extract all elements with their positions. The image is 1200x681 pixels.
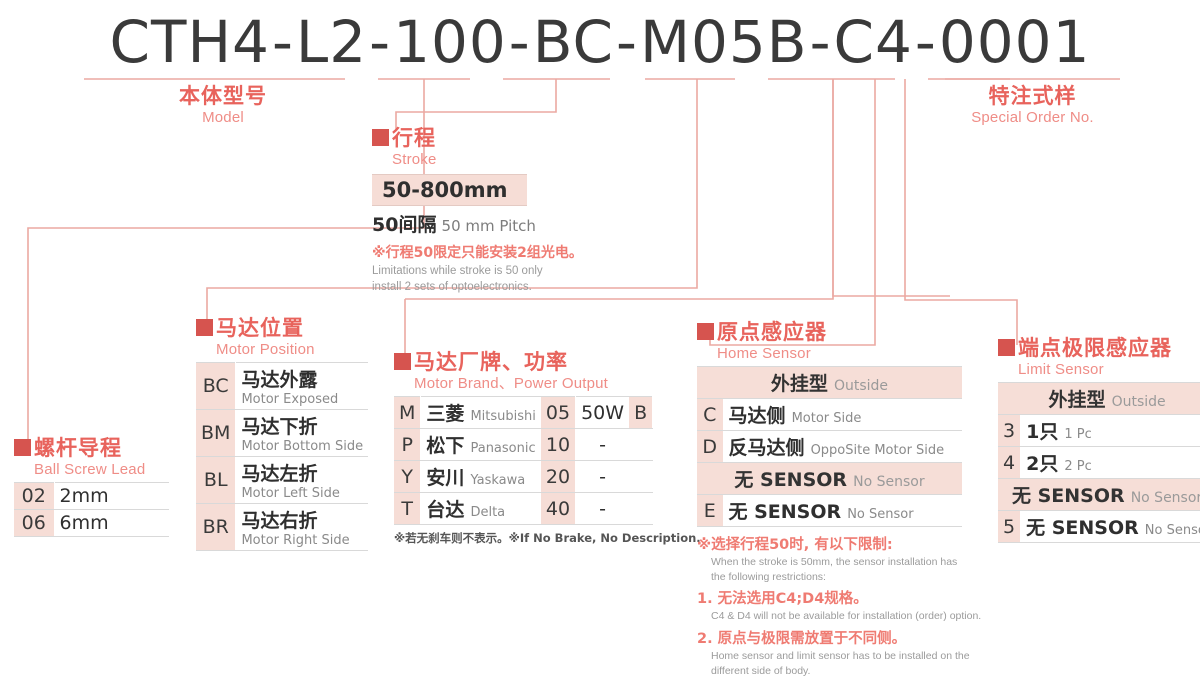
bullet-square-icon [697, 323, 714, 340]
table-row: 3 1只 1 Pc [998, 415, 1200, 447]
limit-sensor-group-none-cn: 无 SENSOR [1012, 485, 1125, 507]
home-sensor-none-code: E [697, 495, 723, 527]
motor-power-value-1: - [576, 429, 629, 461]
callout-motor-brand: 马达厂牌、功率 Motor Brand、Power Output M 三菱 Mi… [394, 352, 701, 546]
limit-sensor-cn-1: 2只 [1026, 453, 1058, 475]
callout-motor-position: 马达位置 Motor Position BC 马达外露 Motor Expose… [196, 318, 368, 551]
home-sensor-value-1: 反马达侧 OppoSite Motor Side [723, 431, 962, 463]
home-sensor-table: 外挂型 Outside C 马达侧 Motor Side D 反马达侧 Oppo… [697, 366, 962, 527]
callout-ball-screw-label-cn: 螺杆导程 [34, 438, 122, 459]
ball-screw-value-0: 2mm [54, 483, 169, 510]
motor-position-en-0: Motor Exposed [241, 392, 363, 407]
limit-sensor-value-0: 1只 1 Pc [1021, 415, 1200, 447]
home-sensor-group-outside-en: Outside [834, 378, 888, 394]
motor-power-code-2: 20 [541, 461, 576, 493]
motor-brake-code-1 [629, 429, 653, 461]
stroke-pitch: 50间隔 50 mm Pitch [372, 210, 583, 237]
limit-sensor-code-0: 3 [998, 415, 1021, 447]
table-row: 02 2mm [14, 483, 169, 510]
callout-home-sensor-label-cn: 原点感应器 [717, 322, 827, 343]
home-sensor-code-0: C [697, 399, 723, 431]
callout-motor-brand-label-cn: 马达厂牌、功率 [414, 352, 568, 373]
table-row: BL 马达左折 Motor Left Side [196, 457, 368, 504]
table-group-header-row: 外挂型 Outside [697, 367, 962, 399]
motor-brand-name-0: 三菱 Mitsubishi [421, 397, 541, 429]
home-sensor-none-cn: 无 SENSOR [729, 501, 842, 523]
motor-brand-note: ※若无刹车则不表示。※If No Brake, No Description. [394, 530, 701, 546]
limit-sensor-none-en: No Sensor [1145, 523, 1200, 538]
motor-power-code-3: 40 [541, 493, 576, 525]
table-row: M 三菱 Mitsubishi 05 50W B [394, 397, 653, 429]
motor-position-cn-0: 马达外露 [241, 365, 363, 392]
restriction-item2-en-line1: Home sensor and limit sensor has to be i… [711, 649, 1017, 664]
bullet-square-icon [372, 129, 389, 146]
motor-position-value-0: 马达外露 Motor Exposed [236, 363, 368, 410]
restriction-title-en: When the stroke is 50mm, the sensor inst… [711, 555, 1017, 584]
motor-brand-name-1: 松下 Panasonic [421, 429, 541, 461]
home-sensor-group-none: 无 SENSOR No Sensor [697, 463, 962, 495]
limit-sensor-group-none: 无 SENSOR No Sensor [998, 479, 1200, 511]
motor-brand-cn-1: 松下 [426, 435, 464, 457]
limit-sensor-group-none-en: No Sensor [1131, 490, 1200, 506]
bullet-square-icon [998, 339, 1015, 356]
stroke-note-en-line1: Limitations while stroke is 50 only [372, 264, 583, 280]
callout-motor-position-label-en: Motor Position [216, 342, 368, 357]
motor-brand-cn-0: 三菱 [426, 403, 464, 425]
motor-position-table: BC 马达外露 Motor Exposed BM 马达下折 Motor Bott… [196, 362, 368, 551]
restriction-item2-cn: 2. 原点与极限需放置于不同侧。 [697, 627, 1017, 648]
home-sensor-group-none-en: No Sensor [853, 474, 924, 490]
motor-position-en-3: Motor Right Side [241, 533, 363, 548]
motor-brand-en-0: Mitsubishi [470, 409, 535, 424]
motor-brand-name-2: 安川 Yaskawa [421, 461, 541, 493]
table-row: 4 2只 2 Pc [998, 447, 1200, 479]
callout-model-label-en: Model [118, 110, 328, 125]
motor-brand-en-2: Yaskawa [470, 473, 525, 488]
table-group-header-row: 无 SENSOR No Sensor [998, 479, 1200, 511]
restriction-item2-en-line2: different side of body. [711, 664, 1017, 679]
table-row: T 台达 Delta 40 - [394, 493, 653, 525]
callout-motor-position-label-cn: 马达位置 [216, 318, 304, 339]
leader-motor-brand-a [833, 79, 950, 296]
table-row: BM 马达下折 Motor Bottom Side [196, 410, 368, 457]
motor-brake-code-3 [629, 493, 653, 525]
table-row: D 反马达侧 OppoSite Motor Side [697, 431, 962, 463]
table-row: P 松下 Panasonic 10 - [394, 429, 653, 461]
limit-sensor-en-0: 1 Pc [1064, 427, 1091, 442]
table-row: C 马达侧 Motor Side [697, 399, 962, 431]
motor-brand-name-3: 台达 Delta [421, 493, 541, 525]
callout-special-order-label-cn: 特注式样 [989, 86, 1077, 107]
home-sensor-group-outside-cn: 外挂型 [771, 373, 828, 395]
motor-position-cn-3: 马达右折 [241, 506, 363, 533]
ball-screw-code-0: 02 [14, 483, 54, 510]
motor-position-cn-2: 马达左折 [241, 459, 363, 486]
motor-power-value-0: 50W [576, 397, 629, 429]
limit-sensor-code-1: 4 [998, 447, 1021, 479]
home-sensor-cn-0: 马达侧 [729, 405, 786, 427]
restriction-item1-en: C4 & D4 will not be available for instal… [711, 609, 1017, 624]
restriction-title-en-line2: the following restrictions: [711, 570, 1017, 585]
motor-power-value-2: - [576, 461, 629, 493]
motor-brand-code-0: M [394, 397, 421, 429]
callout-home-sensor-label-en: Home Sensor [717, 346, 1017, 361]
motor-brand-cn-2: 安川 [426, 467, 464, 489]
stroke-note-en-line2: install 2 sets of optoelectronics. [372, 280, 583, 296]
callout-limit-sensor-label-cn: 端点极限感应器 [1018, 338, 1172, 359]
table-row: E 无 SENSOR No Sensor [697, 495, 962, 527]
bullet-square-icon [14, 439, 31, 456]
callout-stroke-label-cn: 行程 [392, 128, 436, 149]
motor-position-code-0: BC [196, 363, 236, 410]
motor-position-value-2: 马达左折 Motor Left Side [236, 457, 368, 504]
motor-position-value-3: 马达右折 Motor Right Side [236, 504, 368, 551]
stroke-note-cn: ※行程50限定只能安装2组光电。 [372, 242, 583, 262]
stroke-range-value: 50-800mm [372, 174, 527, 206]
motor-brand-code-3: T [394, 493, 421, 525]
motor-power-code-1: 10 [541, 429, 576, 461]
home-sensor-none-value: 无 SENSOR No Sensor [723, 495, 962, 527]
bullet-square-icon [394, 353, 411, 370]
home-sensor-restrictions: ※选择行程50时, 有以下限制: When the stroke is 50mm… [697, 533, 1017, 678]
limit-sensor-none-cn: 无 SENSOR [1026, 517, 1139, 539]
callout-special-order: 特注式样 Special Order No. [935, 86, 1130, 125]
home-sensor-en-1: OppoSite Motor Side [811, 443, 945, 458]
restriction-title-en-line1: When the stroke is 50mm, the sensor inst… [711, 555, 1017, 570]
ball-screw-lead-table: 02 2mm 06 6mm [14, 482, 169, 537]
stroke-pitch-en: 50 mm Pitch [442, 217, 536, 235]
table-row: BR 马达右折 Motor Right Side [196, 504, 368, 551]
limit-sensor-group-outside-cn: 外挂型 [1049, 389, 1106, 411]
limit-sensor-none-code: 5 [998, 511, 1021, 543]
motor-brand-en-1: Panasonic [470, 441, 535, 456]
home-sensor-group-none-cn: 无 SENSOR [734, 469, 847, 491]
motor-position-value-1: 马达下折 Motor Bottom Side [236, 410, 368, 457]
motor-position-code-2: BL [196, 457, 236, 504]
callout-special-order-label-en: Special Order No. [935, 110, 1130, 125]
stroke-note-en: Limitations while stroke is 50 only inst… [372, 264, 583, 295]
home-sensor-value-0: 马达侧 Motor Side [723, 399, 962, 431]
home-sensor-code-1: D [697, 431, 723, 463]
restriction-title-cn: ※选择行程50时, 有以下限制: [697, 533, 1017, 554]
ball-screw-value-1: 6mm [54, 510, 169, 537]
callout-ball-screw-lead: 螺杆导程 Ball Screw Lead 02 2mm 06 6mm [14, 438, 169, 537]
home-sensor-en-0: Motor Side [792, 411, 862, 426]
table-group-header-row: 外挂型 Outside [998, 383, 1200, 415]
limit-sensor-cn-0: 1只 [1026, 421, 1058, 443]
callout-stroke: 行程 Stroke 50-800mm 50间隔 50 mm Pitch ※行程5… [372, 128, 583, 295]
table-row: 06 6mm [14, 510, 169, 537]
ball-screw-code-1: 06 [14, 510, 54, 537]
restriction-item2-en: Home sensor and limit sensor has to be i… [711, 649, 1017, 678]
leader-home-sensor [710, 79, 875, 345]
limit-sensor-group-outside: 外挂型 Outside [998, 383, 1200, 415]
motor-brand-en-3: Delta [470, 505, 505, 520]
limit-sensor-none-value: 无 SENSOR No Sensor [1021, 511, 1200, 543]
limit-sensor-en-1: 2 Pc [1064, 459, 1091, 474]
callout-model: 本体型号 Model [118, 86, 328, 125]
motor-brand-code-2: Y [394, 461, 421, 493]
callout-home-sensor: 原点感应器 Home Sensor 外挂型 Outside C 马达侧 Moto… [697, 322, 1017, 681]
motor-brand-code-1: P [394, 429, 421, 461]
motor-position-en-1: Motor Bottom Side [241, 439, 363, 454]
table-row: 5 无 SENSOR No Sensor [998, 511, 1200, 543]
callout-motor-brand-label-en: Motor Brand、Power Output [414, 376, 701, 391]
motor-brake-code-2 [629, 461, 653, 493]
motor-brand-cn-3: 台达 [426, 499, 464, 521]
product-code-diagram: CTH4-L2-100-BC-M05B-C4-0001 [0, 0, 1200, 601]
motor-position-code-1: BM [196, 410, 236, 457]
bullet-square-icon [196, 319, 213, 336]
motor-power-code-0: 05 [541, 397, 576, 429]
home-sensor-group-outside: 外挂型 Outside [697, 367, 962, 399]
table-row: Y 安川 Yaskawa 20 - [394, 461, 653, 493]
limit-sensor-value-1: 2只 2 Pc [1021, 447, 1200, 479]
table-group-header-row: 无 SENSOR No Sensor [697, 463, 962, 495]
callout-model-label-cn: 本体型号 [179, 86, 267, 107]
table-row: BC 马达外露 Motor Exposed [196, 363, 368, 410]
callout-ball-screw-label-en: Ball Screw Lead [34, 462, 169, 477]
stroke-pitch-cn: 50间隔 [372, 214, 436, 236]
leader-stroke [396, 79, 556, 130]
limit-sensor-table: 外挂型 Outside 3 1只 1 Pc 4 2只 2 Pc [998, 382, 1200, 543]
motor-brake-code-0: B [629, 397, 653, 429]
restriction-item1-cn: 1. 无法选用C4;D4规格。 [697, 587, 1017, 608]
motor-power-value-3: - [576, 493, 629, 525]
motor-position-code-3: BR [196, 504, 236, 551]
callout-limit-sensor: 端点极限感应器 Limit Sensor 外挂型 Outside 3 1只 1 … [998, 338, 1200, 543]
motor-brand-table: M 三菱 Mitsubishi 05 50W B P 松下 Panasonic … [394, 396, 653, 525]
callout-limit-sensor-label-en: Limit Sensor [1018, 362, 1200, 377]
home-sensor-none-en: No Sensor [847, 507, 913, 522]
limit-sensor-group-outside-en: Outside [1112, 394, 1166, 410]
home-sensor-cn-1: 反马达侧 [729, 437, 805, 459]
motor-position-en-2: Motor Left Side [241, 486, 363, 501]
motor-position-cn-1: 马达下折 [241, 412, 363, 439]
callout-stroke-label-en: Stroke [392, 152, 583, 167]
